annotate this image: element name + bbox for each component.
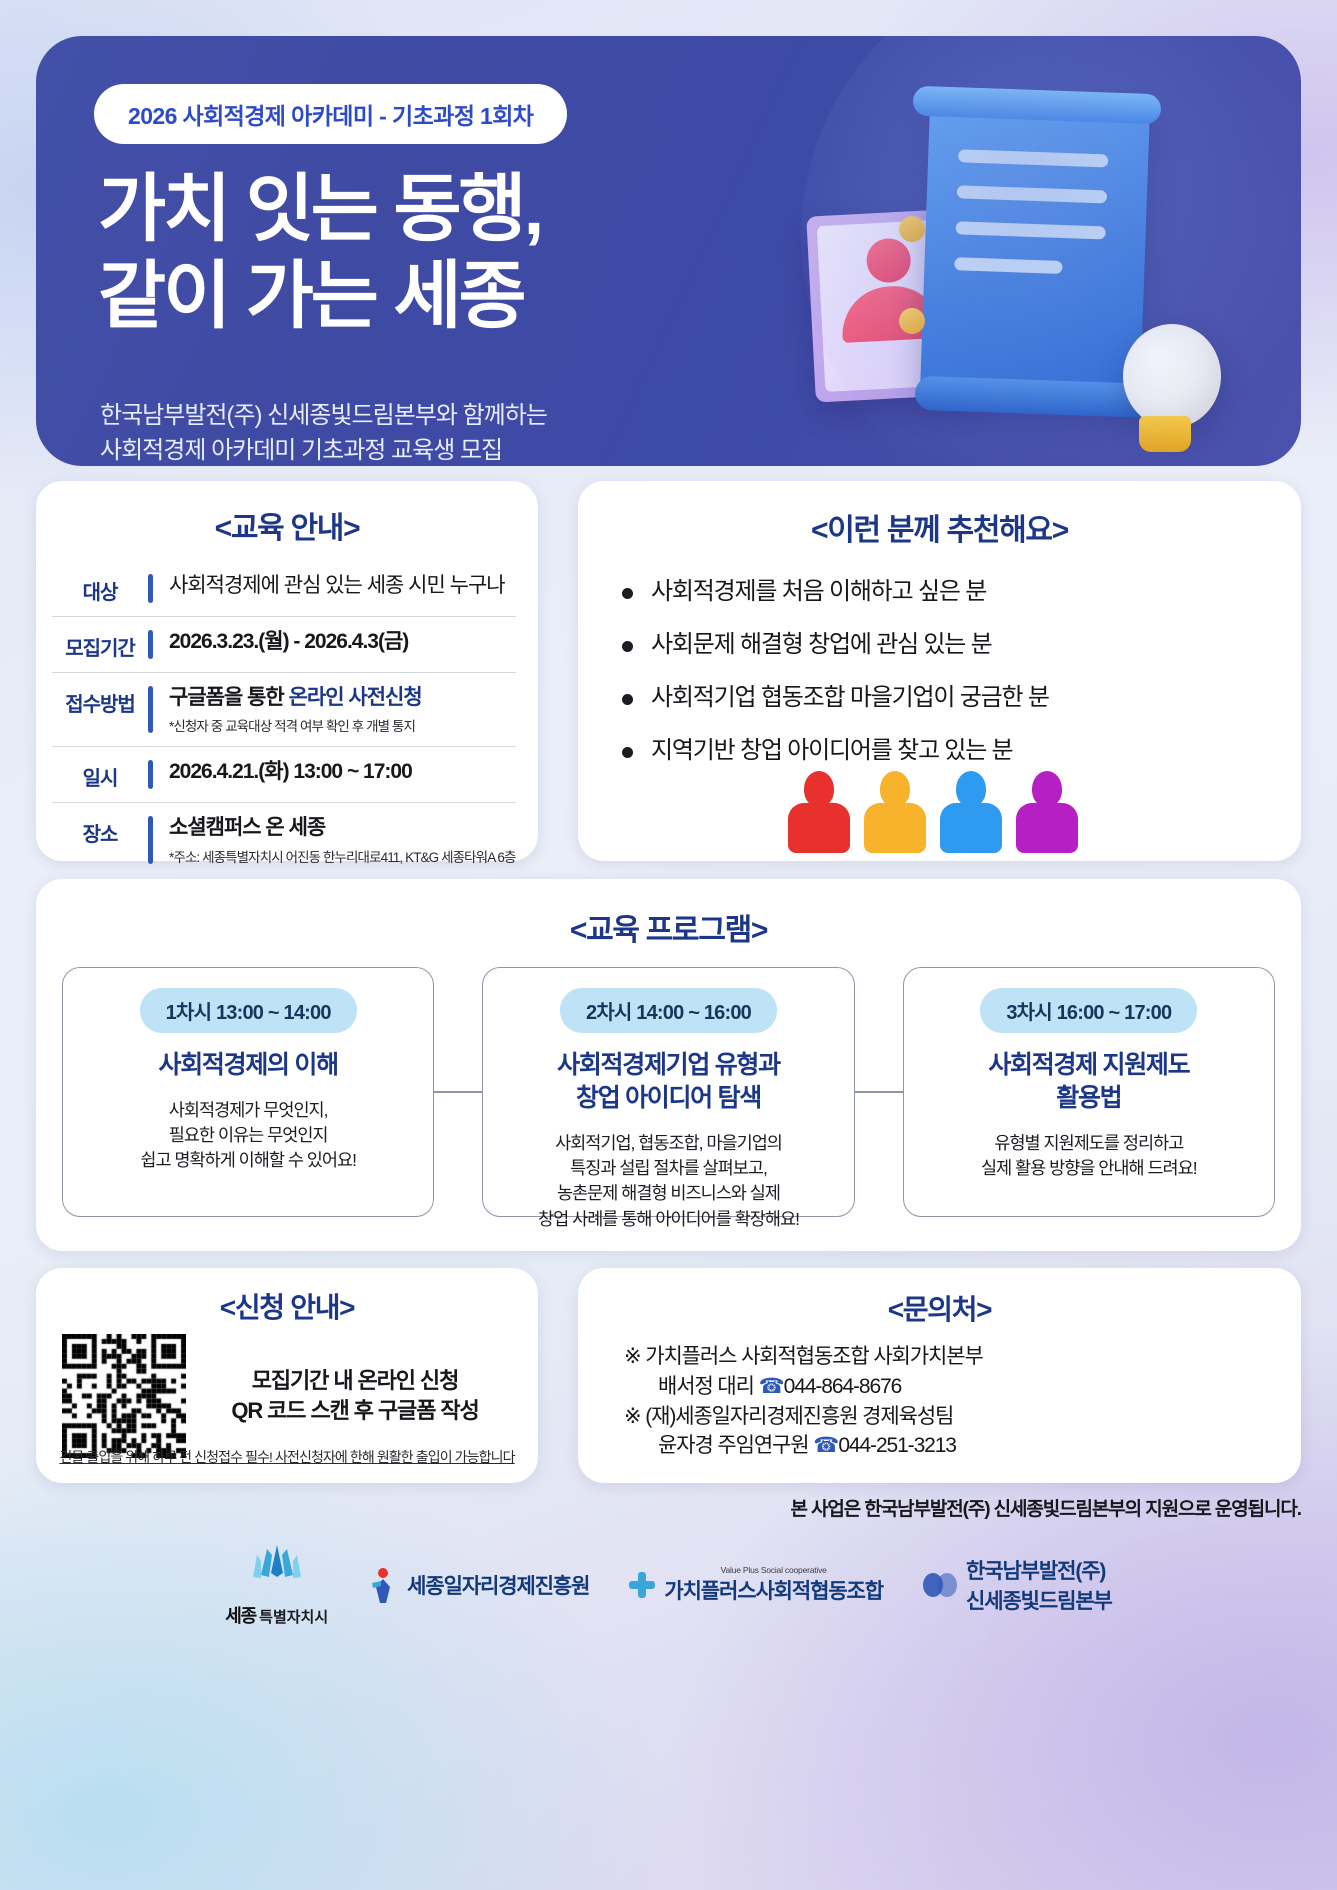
- info-row-period: 모집기간 2026.3.23.(월) - 2026.4.3(금): [52, 616, 516, 672]
- info-label: 장소: [52, 814, 148, 847]
- list-item-label: 사회적기업 협동조합 마을기업이 궁금한 분: [651, 677, 1049, 712]
- sejong-wing-icon: [249, 1543, 305, 1593]
- contact-phone[interactable]: 044-864-8676: [784, 1375, 902, 1398]
- kospo-circle-icon: [923, 1573, 957, 1597]
- info-row-target: 대상 사회적경제에 관심 있는 세종 시민 누구나: [52, 561, 516, 616]
- person-figure-red: [788, 771, 850, 853]
- logo-english-label: Value Plus Social cooperative: [721, 1565, 827, 1575]
- divider-bar: [148, 686, 153, 733]
- info-value: 소셜캠퍼스 온 세종: [169, 814, 516, 841]
- list-item: 지역기반 창업 아이디어를 찾고 있는 분: [622, 730, 1301, 765]
- info-label: 일시: [52, 758, 148, 791]
- logo-value-plus: Value Plus Social cooperative 가치플러스사회적협동…: [629, 1565, 883, 1605]
- logo-label: 세종: [225, 1602, 256, 1628]
- recommendation-card: <이런 분께 추천해요> 사회적경제를 처음 이해하고 싶은 분 사회문제 해결…: [578, 481, 1301, 861]
- person-figure-purple: [1016, 771, 1078, 853]
- session-time-badge: 2차시 14:00 ~ 16:00: [560, 988, 777, 1033]
- logo-sejong-job-agency: 세종일자리경제진흥원: [368, 1567, 589, 1603]
- logo-label: 한국남부발전(주): [966, 1555, 1112, 1585]
- bullet-icon: [622, 747, 633, 758]
- contact-org: ※ 가치플러스 사회적협동조합 사회가치본부: [624, 1342, 1301, 1372]
- logo-sublabel: 특별자치시: [259, 1606, 328, 1627]
- info-label: 접수방법: [52, 684, 148, 717]
- contact-person: 배서정 대리: [658, 1375, 754, 1398]
- logo-kospo: 한국남부발전(주) 신세종빛드림본부: [923, 1555, 1112, 1615]
- info-value-prefix: 구글폼을 통한: [169, 686, 289, 709]
- qr-code-icon[interactable]: [62, 1334, 186, 1458]
- list-item: 사회적경제를 처음 이해하고 싶은 분: [622, 571, 1301, 606]
- book-icon: [806, 208, 991, 403]
- list-item-label: 사회적경제를 처음 이해하고 싶은 분: [651, 571, 986, 606]
- session-time-badge: 3차시 16:00 ~ 17:00: [980, 988, 1197, 1033]
- session-description: 유형별 지원제도를 정리하고 실제 활용 방향을 안내해 드려요!: [920, 1131, 1258, 1181]
- hero-banner: 2026 사회적경제 아카데미 - 기초과정 1회차 가치 잇는 동행, 같이 …: [36, 36, 1301, 466]
- contact-card: <문의처> ※ 가치플러스 사회적협동조합 사회가치본부 배서정 대리 ☎044…: [578, 1268, 1301, 1483]
- contact-phone[interactable]: 044-251-3213: [838, 1434, 956, 1457]
- people-illustration: [788, 767, 1088, 853]
- application-card: <신청 안내> 모집기간 내 온라인 신청 QR 코드 스캔 후 구글폼 작성 …: [36, 1268, 538, 1483]
- session-title: 사회적경제기업 유형과 창업 아이디어 탐색: [499, 1049, 837, 1115]
- info-row-venue: 장소 소셜캠퍼스 온 세종 *주소: 세종특별자치시 어진동 한누리대로411,…: [52, 802, 516, 876]
- bullet-icon: [622, 588, 633, 599]
- info-value: 2026.4.21.(화) 13:00 ~ 17:00: [169, 758, 516, 785]
- divider-bar: [148, 574, 153, 603]
- info-note: *주소: 세종특별자치시 어진동 한누리대로411, KT&G 세종타워A 6층: [169, 846, 516, 866]
- info-row-datetime: 일시 2026.4.21.(화) 13:00 ~ 17:00: [52, 746, 516, 802]
- logo-label: 가치플러스사회적협동조합: [664, 1575, 883, 1605]
- contact-person-row: 윤자경 주임연구원 ☎044-251-3213: [658, 1431, 1301, 1461]
- divider-bar: [148, 760, 153, 789]
- session-title: 사회적경제의 이해: [79, 1049, 417, 1082]
- session-description: 사회적경제가 무엇인지, 필요한 이유는 무엇인지 쉽고 명확하게 이해할 수 …: [79, 1098, 417, 1174]
- recommendation-list: 사회적경제를 처음 이해하고 싶은 분 사회문제 해결형 창업에 관심 있는 분…: [622, 571, 1301, 765]
- runner-icon: [368, 1567, 398, 1603]
- page-title: 가치 잇는 동행, 같이 가는 세종: [98, 166, 541, 339]
- application-instructions: 모집기간 내 온라인 신청 QR 코드 스캔 후 구글폼 작성: [186, 1366, 524, 1427]
- connector-line: [434, 967, 482, 1217]
- divider-bar: [148, 816, 153, 863]
- program-session-2: 2차시 14:00 ~ 16:00 사회적경제기업 유형과 창업 아이디어 탐색…: [482, 967, 854, 1217]
- info-note: *신청자 중 교육대상 적격 여부 확인 후 개별 통지: [169, 715, 516, 735]
- list-item: 사회문제 해결형 창업에 관심 있는 분: [622, 624, 1301, 659]
- contact-list: ※ 가치플러스 사회적협동조합 사회가치본부 배서정 대리 ☎044-864-8…: [624, 1342, 1301, 1461]
- session-title: 사회적경제 지원제도 활용법: [920, 1049, 1258, 1115]
- logo-sublabel: 신세종빛드림본부: [966, 1585, 1112, 1615]
- program-session-3: 3차시 16:00 ~ 17:00 사회적경제 지원제도 활용법 유형별 지원제…: [903, 967, 1275, 1217]
- logo-label: 세종일자리경제진흥원: [407, 1570, 589, 1600]
- list-item-label: 지역기반 창업 아이디어를 찾고 있는 분: [651, 730, 1012, 765]
- divider-bar: [148, 630, 153, 659]
- info-value: 사회적경제에 관심 있는 세종 시민 누구나: [169, 572, 516, 599]
- bullet-icon: [622, 694, 633, 705]
- person-figure-yellow: [864, 771, 926, 853]
- list-item: 사회적기업 협동조합 마을기업이 궁금한 분: [622, 677, 1301, 712]
- hero-illustration: [795, 94, 1215, 454]
- info-label: 대상: [52, 572, 148, 605]
- person-figure-blue: [940, 771, 1002, 853]
- sponsor-note: 본 사업은 한국남부발전(주) 신세종빛드림본부의 지원으로 운영됩니다.: [790, 1494, 1301, 1521]
- program-grid: 1차시 13:00 ~ 14:00 사회적경제의 이해 사회적경제가 무엇인지,…: [62, 967, 1275, 1217]
- info-label: 모집기간: [52, 628, 148, 661]
- application-heading: <신청 안내>: [36, 1286, 538, 1326]
- contact-org: ※ (재)세종일자리경제진흥원 경제육성팀: [624, 1402, 1301, 1432]
- session-description: 사회적기업, 협동조합, 마을기업의 특징과 설립 절차를 살펴보고, 농촌문제…: [499, 1131, 837, 1232]
- connector-line: [855, 967, 903, 1217]
- footer-logos: 세종 특별자치시 세종일자리경제진흥원 Value Plus Social co…: [0, 1540, 1337, 1630]
- session-time-badge: 1차시 13:00 ~ 14:00: [140, 988, 357, 1033]
- info-card-heading: <교육 안내>: [36, 503, 538, 547]
- phone-icon: ☎: [759, 1375, 784, 1398]
- info-row-method: 접수방법 구글폼을 통한 온라인 사전신청 *신청자 중 교육대상 적격 여부 …: [52, 672, 516, 746]
- bullet-icon: [622, 641, 633, 652]
- info-rows: 대상 사회적경제에 관심 있는 세종 시민 누구나 모집기간 2026.3.23…: [52, 561, 516, 877]
- lightbulb-icon: [1123, 324, 1221, 428]
- list-item-label: 사회문제 해결형 창업에 관심 있는 분: [651, 624, 992, 659]
- education-info-card: <교육 안내> 대상 사회적경제에 관심 있는 세종 시민 누구나 모집기간 2…: [36, 481, 538, 861]
- contact-person: 윤자경 주임연구원: [658, 1434, 809, 1457]
- program-card: <교육 프로그램> 1차시 13:00 ~ 14:00 사회적경제의 이해 사회…: [36, 879, 1301, 1251]
- hero-subtitle: 한국남부발전(주) 신세종빛드림본부와 함께하는 사회적경제 아카데미 기초과정…: [100, 398, 547, 466]
- info-value: 2026.3.23.(월) - 2026.4.3(금): [169, 628, 516, 655]
- phone-icon: ☎: [813, 1434, 838, 1457]
- application-note: 건물 출입을 위해 하루 전 신청접수 필수! 사전신청자에 한해 원활한 출입…: [36, 1447, 538, 1467]
- plus-icon: [629, 1572, 655, 1598]
- course-badge: 2026 사회적경제 아카데미 - 기초과정 1회차: [94, 84, 567, 144]
- contact-heading: <문의처>: [578, 1288, 1301, 1328]
- program-heading: <교육 프로그램>: [36, 905, 1301, 949]
- recommendation-heading: <이런 분께 추천해요>: [578, 505, 1301, 549]
- contact-person-row: 배서정 대리 ☎044-864-8676: [658, 1372, 1301, 1402]
- scroll-document-icon: [920, 96, 1150, 403]
- info-value-accent: 온라인 사전신청: [289, 686, 422, 709]
- program-session-1: 1차시 13:00 ~ 14:00 사회적경제의 이해 사회적경제가 무엇인지,…: [62, 967, 434, 1217]
- logo-sejong-city: 세종 특별자치시: [225, 1543, 328, 1628]
